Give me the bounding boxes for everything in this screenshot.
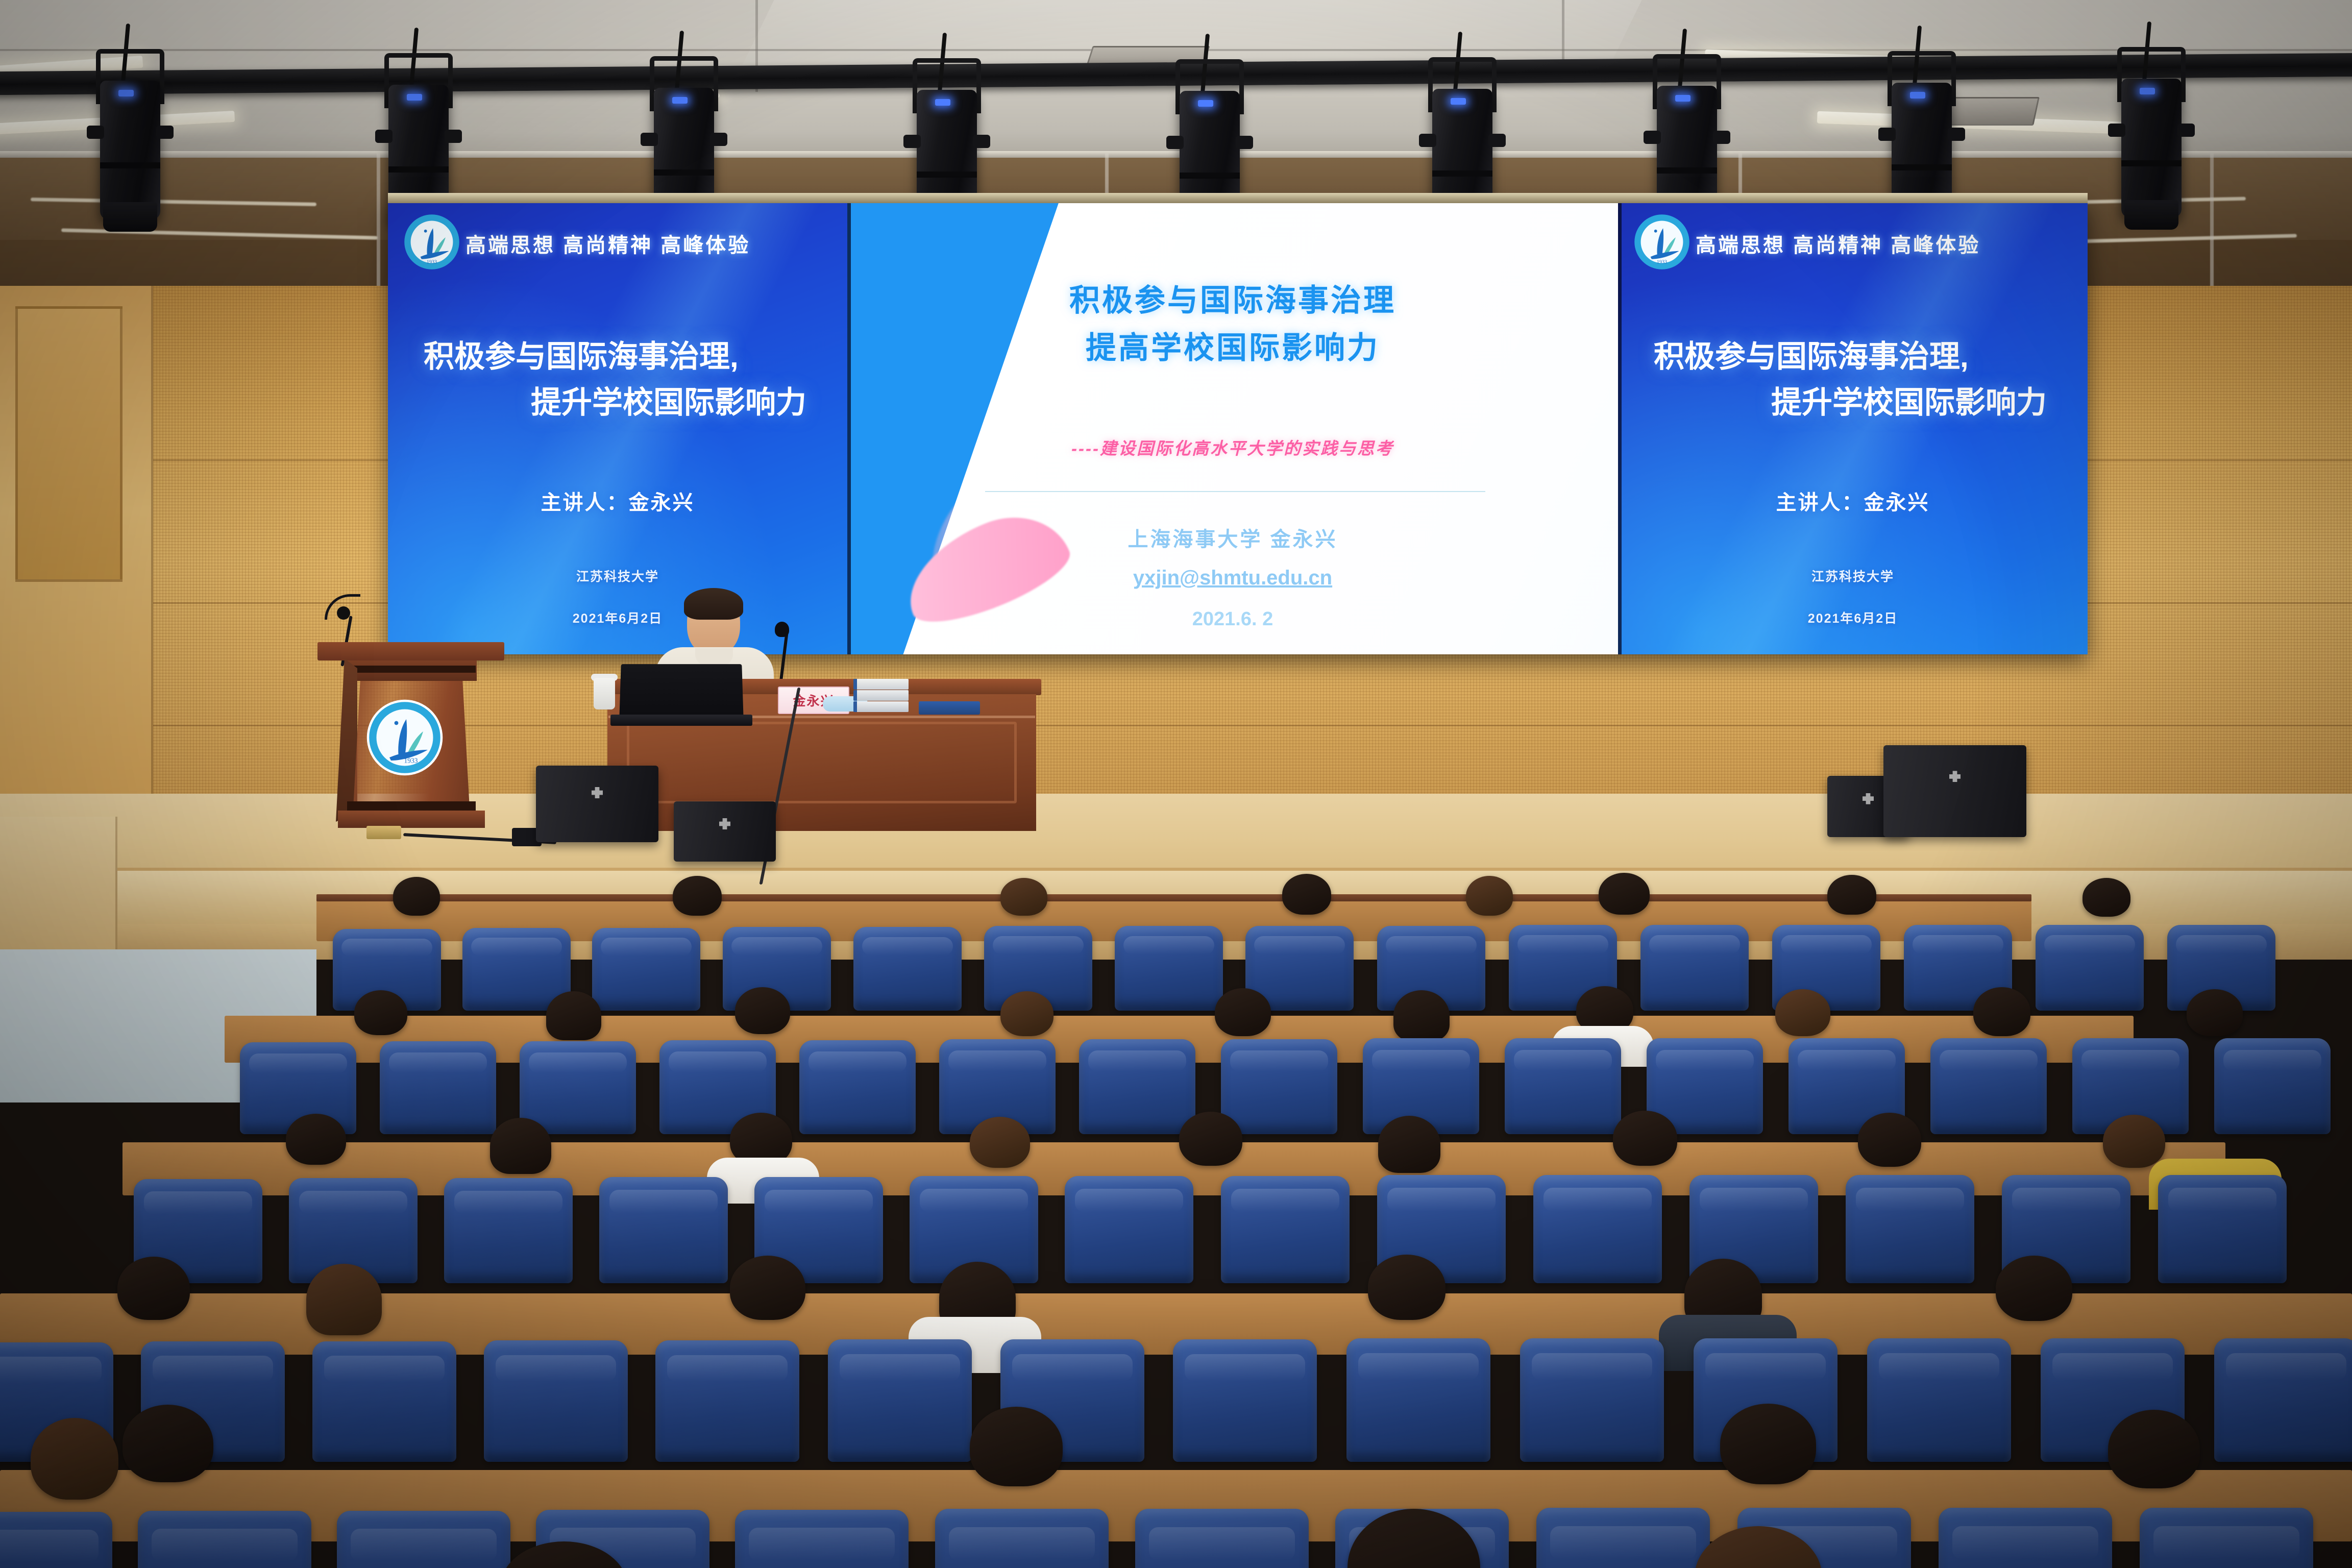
light-led-indicator (407, 94, 422, 101)
audience-seat[interactable] (444, 1178, 573, 1283)
audience-head (1599, 873, 1650, 915)
table-microphone (759, 622, 805, 688)
audience-head (1378, 1116, 1440, 1173)
audience-head (1282, 874, 1331, 915)
podium-school-seal-icon: 1933 (366, 699, 443, 776)
panel-org-right: 江苏科技大学 (1618, 567, 2088, 585)
audience-seat[interactable] (337, 1511, 510, 1568)
audience-area (0, 863, 2352, 1568)
audience-head (122, 1405, 213, 1482)
glass-mullion (2210, 153, 2214, 301)
audience-head (117, 1257, 190, 1320)
speaker-brand-icon (1949, 771, 1961, 782)
videowall-top-trim (388, 193, 2088, 203)
podium-accent-band (347, 801, 476, 811)
audience-seat[interactable] (1065, 1176, 1193, 1283)
light-tilt-knob (1236, 136, 1253, 149)
stage-monitor-speaker (1883, 745, 2026, 837)
light-led-indicator (1910, 92, 1925, 99)
audience-head (970, 1407, 1063, 1486)
audience-seat[interactable] (1939, 1508, 2112, 1568)
book (853, 690, 909, 701)
audience-head (306, 1264, 382, 1335)
laptop-screen[interactable] (619, 664, 743, 720)
light-led-indicator (672, 97, 688, 104)
mic-capsule-icon (337, 606, 350, 620)
light-tilt-knob (1166, 136, 1184, 149)
light-tilt-knob (1878, 128, 1896, 141)
lectern-podium: 1933 (327, 642, 495, 846)
teacup (594, 678, 615, 709)
audience-seat[interactable] (484, 1340, 628, 1462)
audience-seat[interactable] (735, 1510, 909, 1568)
light-tilt-knob (710, 133, 727, 146)
light-led-indicator (935, 99, 950, 106)
panel-title-line2: 提升学校国际影响力 (1644, 380, 2062, 426)
light-band (100, 162, 160, 168)
audience-head (1827, 875, 1876, 915)
light-band (2121, 160, 2182, 166)
light-led-indicator (1451, 98, 1466, 105)
audience-seat[interactable] (592, 928, 700, 1011)
audience-head (1858, 1113, 1921, 1167)
audience-head (1996, 1256, 2072, 1321)
audience-seat[interactable] (2214, 1038, 2331, 1134)
light-tilt-knob (641, 133, 658, 146)
book (853, 701, 909, 712)
light-band (1657, 167, 1717, 174)
slide-title-line1: 积极参与国际海事治理 (847, 277, 1618, 324)
light-led-indicator (1675, 95, 1690, 102)
audience-head (1973, 987, 2030, 1036)
audience-head (673, 876, 722, 916)
stage-monitor-speaker (536, 766, 658, 842)
light-body (2121, 79, 2182, 217)
light-tilt-knob (2108, 124, 2125, 137)
audience-head (286, 1114, 346, 1165)
light-led-indicator (1198, 100, 1213, 107)
audience-seat[interactable] (1346, 1338, 1490, 1462)
panel-title-left: 积极参与国际海事治理, 提升学校国际影响力 (388, 334, 847, 426)
school-seal-icon: 1933 (403, 213, 460, 271)
videowall-center-panel: 积极参与国际海事治理 提高学校国际影响力 ----建设国际化高水平大学的实践与思… (847, 200, 1618, 654)
panel-speaker-right: 主讲人：金永兴 (1618, 486, 2088, 516)
panel-title-right: 积极参与国际海事治理, 提升学校国际影响力 (1618, 334, 2088, 426)
audience-seat[interactable] (1115, 926, 1223, 1011)
audience-head (1466, 876, 1513, 916)
light-tilt-knob (903, 135, 921, 148)
audience-seat[interactable] (520, 1041, 636, 1134)
light-tilt-knob (445, 130, 462, 143)
audience-head (2108, 1410, 2200, 1488)
light-tilt-knob (2177, 124, 2195, 137)
auditorium-photo: 1933 高端思想 高尚精神 高峰体验 积极参与国际海事治理, 提升学校国际影响… (0, 0, 2352, 1568)
audience-seat[interactable] (799, 1040, 916, 1134)
light-tilt-knob (973, 135, 990, 148)
panel-org-left: 江苏科技大学 (388, 567, 847, 585)
slide-email[interactable]: yxjin@shmtu.edu.cn (847, 567, 1618, 590)
stage-floor-box (366, 826, 401, 839)
audience-head (735, 987, 790, 1034)
stage-monitor-speaker (674, 801, 776, 862)
audience-seat[interactable] (1221, 1176, 1350, 1283)
audience-head (2082, 878, 2130, 917)
light-lens (103, 202, 157, 232)
audience-head (1775, 989, 1830, 1036)
light-tilt-knob (1419, 134, 1436, 147)
audience-head (1000, 878, 1047, 916)
audience-head (1720, 1404, 1816, 1484)
balcony-rail-top (0, 151, 2352, 158)
panel-bezel (847, 200, 851, 654)
audience-head (1393, 990, 1450, 1041)
light-band (917, 171, 977, 178)
videowall-left-panel: 1933 高端思想 高尚精神 高峰体验 积极参与国际海事治理, 提升学校国际影响… (388, 200, 847, 654)
slide-date: 2021.6. 2 (847, 608, 1618, 630)
seal-svg: 1933 (1633, 213, 1690, 271)
audience-head (393, 877, 440, 916)
panel-title-line1: 积极参与国际海事治理, (1644, 334, 2062, 380)
audience-head (970, 1117, 1030, 1168)
audience-head (490, 1118, 551, 1174)
blue-folder (919, 701, 980, 715)
panel-speaker-left: 主讲人：金永兴 (388, 486, 847, 516)
speaker-brand-icon (1863, 793, 1874, 804)
school-seal-icon: 1933 (1633, 213, 1690, 271)
speaker-collar (695, 648, 733, 666)
speaker-brand-icon (719, 818, 730, 829)
light-led-indicator (2140, 88, 2155, 94)
panel-bezel (1618, 200, 1622, 654)
svg-text:1933: 1933 (427, 260, 437, 265)
audience-seat[interactable] (655, 1340, 799, 1462)
audience-seat[interactable] (853, 927, 962, 1011)
audience-seat[interactable] (138, 1511, 311, 1568)
slide-subtitle: ----建设国际化高水平大学的实践与思考 (847, 435, 1618, 459)
audience-seat[interactable] (1079, 1039, 1195, 1134)
side-door-panel[interactable] (15, 306, 122, 582)
light-band (1432, 170, 1492, 177)
audience-head (31, 1418, 118, 1500)
led-video-wall: 1933 高端思想 高尚精神 高峰体验 积极参与国际海事治理, 提升学校国际影响… (388, 200, 2088, 654)
audience-seat[interactable] (1846, 1175, 1974, 1283)
speaker-brand-icon (592, 787, 603, 798)
light-tilt-knob (1948, 128, 1965, 141)
light-band (654, 169, 714, 176)
slide-title: 积极参与国际海事治理 提高学校国际影响力 (847, 277, 1618, 372)
light-body (100, 81, 160, 219)
audience-seat[interactable] (1930, 1038, 2047, 1134)
audience-seat[interactable] (935, 1509, 1109, 1568)
light-band (1892, 164, 1952, 170)
audience-head (1215, 988, 1271, 1036)
audience-seat[interactable] (828, 1339, 972, 1462)
videowall-right-panel: 1933 高端思想 高尚精神 高峰体验 积极参与国际海事治理, 提升学校国际影响… (1618, 200, 2088, 654)
svg-text:1933: 1933 (1657, 260, 1667, 265)
light-tilt-knob (87, 126, 104, 139)
seal-svg: 1933 (366, 699, 443, 776)
podium-top (317, 642, 504, 660)
audience-head (730, 1256, 805, 1320)
light-lens (2124, 200, 2178, 230)
slide-title-line2: 提高学校国际影响力 (847, 324, 1618, 372)
audience-head (1368, 1255, 1445, 1320)
book-stack (853, 679, 909, 713)
panel-date-right: 2021年6月2日 (1618, 608, 2088, 627)
light-led-indicator (118, 90, 134, 96)
podium-accent-band (348, 666, 476, 673)
laptop-keyboard[interactable] (610, 715, 752, 726)
panel-headline-left: 高端思想 高尚精神 高峰体验 (465, 229, 750, 258)
audience-seat[interactable] (0, 1512, 112, 1568)
seal-year: 1933 (404, 757, 418, 765)
audience-head (2187, 989, 2243, 1036)
audience-seat[interactable] (2140, 1508, 2313, 1568)
slide-organization: 上海海事大学 金永兴 (847, 523, 1618, 552)
panel-title-line1: 积极参与国际海事治理, (413, 334, 822, 380)
glass-mullion (377, 153, 380, 301)
audience-seat[interactable] (1221, 1039, 1337, 1134)
audience-head (354, 990, 407, 1035)
panel-headline-right: 高端思想 高尚精神 高峰体验 (1696, 229, 1980, 258)
table-inset-moulding (627, 722, 1017, 803)
light-tilt-knob (1713, 131, 1730, 144)
audience-seat[interactable] (1533, 1175, 1662, 1283)
slide-divider (985, 491, 1485, 492)
audience-seat[interactable] (1173, 1339, 1317, 1462)
audience-seat[interactable] (312, 1341, 456, 1462)
light-band (388, 166, 449, 173)
audience-seat[interactable] (1640, 925, 1749, 1011)
audience-head (1179, 1112, 1242, 1166)
audience-head (2103, 1115, 2165, 1168)
audience-seat[interactable] (2036, 925, 2144, 1011)
desk-rail (316, 894, 2031, 901)
speaker-hair (684, 588, 743, 620)
audience-head (546, 991, 601, 1040)
panel-title-line2: 提升学校国际影响力 (413, 380, 822, 426)
light-tilt-knob (1488, 134, 1506, 147)
podium-base (338, 811, 485, 828)
audience-seat[interactable] (1536, 1508, 1710, 1568)
audience-seat[interactable] (2214, 1338, 2352, 1462)
audience-seat[interactable] (1505, 1038, 1621, 1134)
audience-head (1613, 1111, 1677, 1166)
light-tilt-knob (375, 130, 393, 143)
audience-seat[interactable] (599, 1177, 728, 1283)
audience-seat[interactable] (380, 1041, 496, 1134)
audience-head (1000, 991, 1053, 1036)
audience-seat[interactable] (2158, 1175, 2287, 1283)
mic-capsule-icon (775, 622, 789, 637)
light-band (1180, 173, 1240, 179)
audience-seat[interactable] (1867, 1338, 2011, 1462)
light-tilt-knob (1644, 131, 1661, 144)
audience-seat[interactable] (1520, 1338, 1664, 1462)
light-tilt-knob (156, 126, 174, 139)
seal-svg: 1933 (403, 213, 460, 271)
book (853, 679, 909, 690)
audience-seat[interactable] (1135, 1509, 1309, 1568)
